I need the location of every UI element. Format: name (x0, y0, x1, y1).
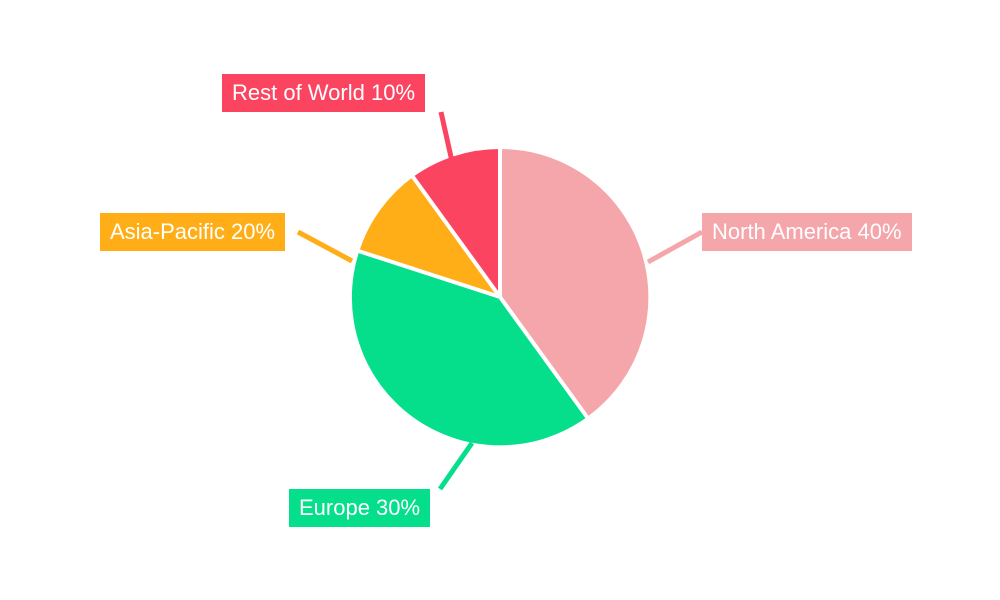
pie-label-asia-pacific[interactable]: Asia-Pacific 20% (100, 213, 285, 251)
pie-label-rest-of-world[interactable]: Rest of World 10% (222, 74, 425, 112)
leader-line-europe (440, 443, 472, 489)
leader-line-asia-pacific (298, 232, 352, 261)
leader-line-north-america (648, 232, 702, 262)
pie-chart-canvas (0, 0, 1000, 600)
pie-label-north-america[interactable]: North America 40% (702, 213, 912, 251)
pie-chart: North America 40% Europe 30% Asia-Pacifi… (0, 0, 1000, 600)
pie-label-europe[interactable]: Europe 30% (289, 489, 430, 527)
